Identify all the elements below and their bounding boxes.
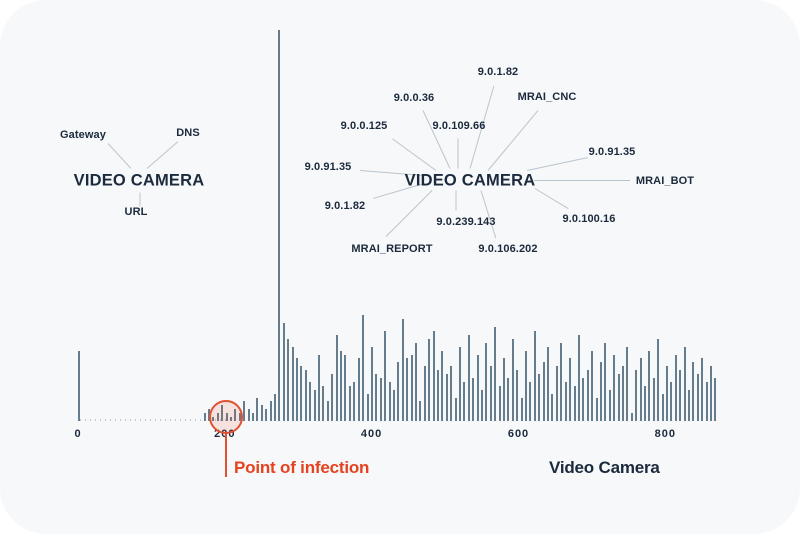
chart-bar — [265, 409, 267, 421]
chart-bar — [525, 351, 527, 421]
chart-bar — [516, 370, 518, 421]
series-label: Video Camera — [549, 458, 660, 478]
chart-bar — [336, 335, 338, 421]
point-of-infection-highlight[interactable] — [209, 400, 243, 434]
chart-bar — [433, 331, 435, 421]
chart-bar — [609, 390, 611, 421]
chart-bar — [640, 358, 642, 421]
chart-bar — [684, 347, 686, 421]
chart-bar — [494, 327, 496, 421]
chart-bar — [521, 398, 523, 421]
chart-bar — [560, 343, 562, 421]
chart-bar — [701, 358, 703, 421]
chart-bar — [406, 358, 408, 421]
cluster-spoke-line — [140, 193, 141, 207]
chart-bar — [327, 401, 329, 421]
chart-bar — [551, 394, 553, 421]
chart-bar — [459, 347, 461, 421]
chart-bar — [384, 331, 386, 421]
cluster-leaf-label: 9.0.1.82 — [325, 200, 366, 212]
chart-bar — [666, 366, 668, 421]
chart-bar — [463, 382, 465, 421]
point-of-infection-stem — [225, 434, 227, 477]
chart-bar — [340, 351, 342, 421]
chart-bar — [657, 339, 659, 421]
chart-bar — [565, 382, 567, 421]
chart-bar — [415, 343, 417, 421]
cluster-leaf-label: 9.0.109.66 — [433, 120, 486, 132]
chart-bar — [503, 358, 505, 421]
chart-bar — [380, 378, 382, 421]
chart-bar — [278, 30, 280, 421]
chart-bar — [389, 382, 391, 421]
chart-bar — [437, 370, 439, 421]
chart-bar — [574, 386, 576, 421]
chart-bar — [675, 355, 677, 421]
chart-bar — [604, 343, 606, 421]
chart-bar — [622, 366, 624, 421]
chart-bar — [648, 351, 650, 421]
chart-bar — [631, 413, 633, 421]
chart-bar — [261, 405, 263, 421]
chart-bar — [547, 347, 549, 421]
chart-bar — [367, 394, 369, 421]
chart-bar — [679, 370, 681, 421]
cluster-spoke-line — [458, 139, 459, 169]
cluster-leaf-label: MRAI_REPORT — [351, 243, 432, 255]
chart-bar — [300, 366, 302, 421]
chart-bar — [591, 351, 593, 421]
chart-bar — [397, 362, 399, 421]
chart-bar — [371, 347, 373, 421]
chart-bar — [710, 366, 712, 421]
chart-bar — [481, 390, 483, 421]
chart-bar — [287, 339, 289, 421]
chart-bar — [314, 390, 316, 421]
chart-bar — [600, 362, 602, 421]
chart-bar — [252, 413, 254, 421]
bar-chart-plot — [78, 30, 724, 421]
chart-bar — [402, 319, 404, 421]
cluster-leaf-label: 9.0.100.16 — [563, 213, 616, 225]
chart-bar — [635, 370, 637, 421]
chart-bar — [344, 355, 346, 421]
chart-bar — [596, 398, 598, 421]
chart-bar — [644, 386, 646, 421]
chart-bar — [534, 331, 536, 421]
chart-bar — [618, 374, 620, 421]
chart-bar — [419, 401, 421, 421]
chart-bar — [714, 378, 716, 421]
chart-bar — [441, 351, 443, 421]
chart-bar — [450, 366, 452, 421]
chart-bar — [283, 323, 285, 421]
x-axis-tick-label: 0 — [74, 428, 81, 440]
cluster-leaf-label: 9.0.106.202 — [478, 243, 537, 255]
x-axis-tick-label: 400 — [361, 428, 382, 440]
cluster-leaf-label: 9.0.1.82 — [478, 66, 519, 78]
cluster-leaf-label: URL — [125, 206, 148, 218]
chart-bar — [512, 339, 514, 421]
chart-bar — [499, 386, 501, 421]
chart-bar — [305, 370, 307, 421]
cluster-leaf-label: 9.0.91.35 — [305, 161, 352, 173]
chart-bar — [270, 401, 272, 421]
chart-bar — [688, 390, 690, 421]
cluster-leaf-label: 9.0.0.125 — [341, 120, 388, 132]
chart-bar — [477, 355, 479, 421]
chart-bar — [256, 398, 258, 421]
infographic-panel: 0200400600800 VIDEO CAMERAGatewayDNSURLV… — [0, 0, 800, 534]
chart-bar — [569, 358, 571, 421]
chart-bar — [472, 378, 474, 421]
chart-bar — [375, 374, 377, 421]
chart-bar — [309, 382, 311, 421]
chart-bar — [411, 355, 413, 421]
cluster-hub-label: VIDEO CAMERA — [74, 172, 205, 191]
chart-bar — [274, 394, 276, 421]
chart-bar — [490, 366, 492, 421]
chart-bar — [706, 382, 708, 421]
chart-bar — [529, 382, 531, 421]
x-axis-tick-label: 600 — [508, 428, 529, 440]
x-axis-tick-label: 800 — [655, 428, 676, 440]
cluster-spoke-line — [456, 191, 457, 211]
chart-bar — [393, 390, 395, 421]
chart-bar — [468, 335, 470, 421]
chart-bar — [428, 339, 430, 421]
cluster-leaf-label: 9.0.0.36 — [394, 92, 435, 104]
point-of-infection-label: Point of infection — [234, 458, 369, 478]
chart-bar — [485, 343, 487, 421]
chart-bar — [331, 374, 333, 421]
baseline-dotted-line — [78, 419, 228, 421]
chart-bar — [455, 398, 457, 421]
chart-bar — [653, 378, 655, 421]
chart-bar — [358, 358, 360, 421]
cluster-leaf-label: MRAI_CNC — [518, 91, 577, 103]
chart-bar — [538, 374, 540, 421]
chart-bar — [78, 366, 80, 421]
cluster-leaf-label: 9.0.239.143 — [436, 216, 495, 228]
chart-bar — [349, 386, 351, 421]
chart-bar — [662, 394, 664, 421]
chart-bar — [692, 362, 694, 421]
chart-bar — [507, 378, 509, 421]
chart-bar — [556, 366, 558, 421]
chart-bar — [322, 386, 324, 421]
chart-bar — [582, 378, 584, 421]
chart-bar — [626, 347, 628, 421]
chart-bar — [362, 315, 364, 421]
chart-bar — [578, 335, 580, 421]
cluster-leaf-label: DNS — [176, 127, 200, 139]
chart-bar — [296, 358, 298, 421]
chart-bar — [243, 401, 245, 421]
cluster-leaf-label: 9.0.91.35 — [589, 146, 636, 158]
cluster-spoke-line — [534, 180, 630, 181]
chart-bar — [292, 347, 294, 421]
chart-bar — [543, 362, 545, 421]
chart-bar — [446, 374, 448, 421]
chart-bar — [587, 370, 589, 421]
chart-bar — [697, 374, 699, 421]
chart-bar — [248, 409, 250, 421]
chart-bar — [318, 355, 320, 421]
cluster-leaf-label: Gateway — [60, 129, 106, 141]
cluster-hub-label: VIDEO CAMERA — [405, 172, 536, 191]
chart-bar — [353, 382, 355, 421]
cluster-leaf-label: MRAI_BOT — [636, 175, 694, 187]
chart-bar — [424, 366, 426, 421]
chart-bar — [613, 355, 615, 421]
chart-bar — [670, 382, 672, 421]
